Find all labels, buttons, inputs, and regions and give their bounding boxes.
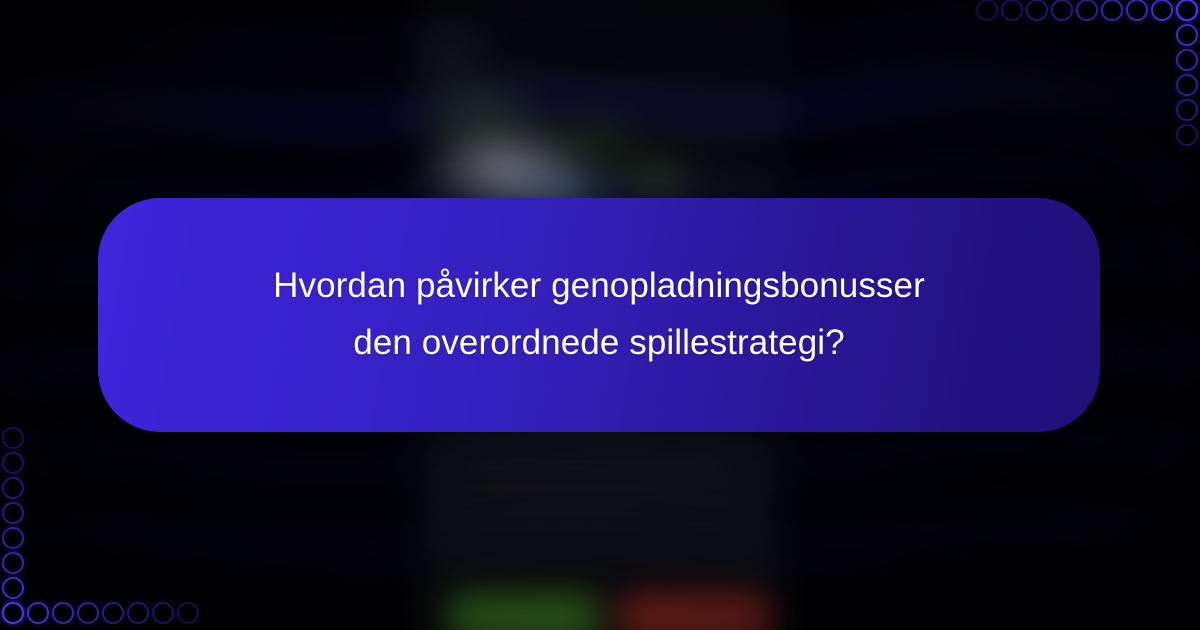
decorative-ring [1001, 0, 1023, 21]
decorative-ring [177, 602, 199, 624]
decorative-ring [976, 0, 998, 21]
decorative-ring [1051, 0, 1073, 21]
decorative-ring [2, 427, 24, 449]
decorative-ring [1176, 99, 1198, 121]
decorative-ring [1176, 74, 1198, 96]
decorative-ring [1176, 124, 1198, 146]
screenshot-accept-button [448, 595, 598, 630]
question-card-content: Hvordan påvirker genopladningsbonusser d… [98, 258, 1100, 371]
question-card: Hvordan påvirker genopladningsbonusser d… [98, 198, 1100, 432]
decorative-ring [127, 602, 149, 624]
decorative-ring [1176, 0, 1198, 21]
decorative-ring [52, 602, 74, 624]
decorative-ring [1126, 0, 1148, 21]
decorative-ring [102, 602, 124, 624]
question-text: Hvordan påvirker genopladningsbonusser d… [164, 258, 1034, 371]
decorative-ring [2, 502, 24, 524]
screenshot-text-line [474, 450, 724, 472]
decorative-ring [2, 527, 24, 549]
screenshot-content-block [434, 410, 766, 560]
decorative-ring [2, 552, 24, 574]
share-card-canvas: Hvordan påvirker genopladningsbonusser d… [0, 0, 1200, 630]
screenshot-text-line [436, 492, 756, 512]
decorative-ring [2, 602, 24, 624]
decorative-ring [1176, 49, 1198, 71]
decorative-ring [1176, 24, 1198, 46]
screenshot-decline-button [620, 595, 770, 630]
decorative-ring [77, 602, 99, 624]
decorative-ring [152, 602, 174, 624]
decorative-ring [1101, 0, 1123, 21]
decorative-ring [2, 477, 24, 499]
decorative-ring [1026, 0, 1048, 21]
decorative-ring [2, 602, 24, 624]
decorative-ring [2, 577, 24, 599]
decorative-ring [27, 602, 49, 624]
decorative-ring [1151, 0, 1173, 21]
decorative-ring [1176, 0, 1198, 21]
decorative-ring [2, 452, 24, 474]
decorative-ring [1076, 0, 1098, 21]
screenshot-hero-image [414, 20, 786, 210]
